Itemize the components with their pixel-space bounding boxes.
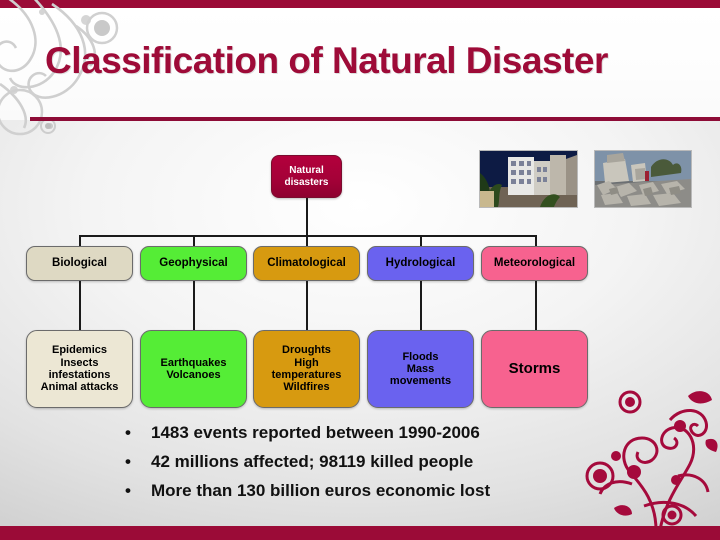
detail-climatological-line4: Wildfires [283, 381, 329, 393]
detail-biological-line4: Animal attacks [41, 381, 119, 393]
node-category-hydrological-label: Hydrological [386, 257, 456, 270]
node-category-biological-label: Biological [52, 257, 107, 270]
list-item: • 1483 events reported between 1990-2006 [125, 424, 645, 442]
node-detail-hydrological: Floods Mass movements [367, 330, 474, 408]
node-category-biological: Biological [26, 246, 133, 281]
node-category-hydrological: Hydrological [367, 246, 474, 281]
slide-canvas: Classification of Natural Disaster [0, 0, 720, 540]
detail-meteorological-line1: Storms [509, 361, 561, 378]
detail-hydrological-line1: Floods [402, 351, 438, 363]
connector-bus-to-biological [79, 235, 81, 246]
node-detail-meteorological: Storms [481, 330, 588, 408]
connector-meteorological-to-detail [535, 281, 537, 331]
node-root-line1: Natural [289, 165, 323, 176]
bullet-text-2: 42 millions affected; 98119 killed peopl… [151, 453, 473, 471]
node-root-line2: disasters [285, 177, 329, 188]
node-category-geophysical: Geophysical [140, 246, 247, 281]
bullet-marker-icon: • [125, 453, 151, 471]
detail-geophysical-line1: Earthquakes [160, 357, 226, 369]
node-category-climatological-label: Climatological [267, 257, 346, 270]
list-item: • More than 130 billion euros economic l… [125, 482, 645, 500]
node-category-meteorological-label: Meteorological [494, 257, 575, 270]
detail-climatological-line2: High [294, 357, 318, 369]
node-category-climatological: Climatological [253, 246, 360, 281]
connector-biological-to-detail [79, 281, 81, 331]
bottom-accent-bar [0, 526, 720, 540]
node-natural-disasters: Natural disasters [271, 155, 342, 198]
detail-hydrological-line2: Mass [407, 363, 435, 375]
connector-geophysical-to-detail [193, 281, 195, 331]
connector-bus-to-climatological [306, 235, 308, 246]
node-detail-geophysical: Earthquakes Volcanoes [140, 330, 247, 408]
connector-hydrological-to-detail [420, 281, 422, 331]
detail-geophysical-line2: Volcanoes [166, 369, 220, 381]
connector-bus [79, 235, 537, 237]
node-category-meteorological: Meteorological [481, 246, 588, 281]
bullet-text-1: 1483 events reported between 1990-2006 [151, 424, 480, 442]
node-detail-biological: Epidemics Insects infestations Animal at… [26, 330, 133, 408]
bullet-marker-icon: • [125, 424, 151, 442]
connector-bus-to-meteorological [535, 235, 537, 246]
detail-biological-line3: infestations [49, 369, 111, 381]
detail-hydrological-line3: movements [390, 375, 451, 387]
node-category-geophysical-label: Geophysical [159, 257, 227, 270]
bullet-marker-icon: • [125, 482, 151, 500]
bullet-text-3: More than 130 billion euros economic los… [151, 482, 490, 500]
detail-biological-line2: Insects [61, 357, 99, 369]
list-item: • 42 millions affected; 98119 killed peo… [125, 453, 645, 471]
detail-biological-line1: Epidemics [52, 344, 107, 356]
connector-bus-to-geophysical [193, 235, 195, 246]
node-detail-climatological: Droughts High temperatures Wildfires [253, 330, 360, 408]
statistics-bullet-list: • 1483 events reported between 1990-2006… [125, 424, 645, 511]
connector-climatological-to-detail [306, 281, 308, 331]
connector-root-down [306, 198, 308, 236]
detail-climatological-line3: temperatures [272, 369, 342, 381]
connector-bus-to-hydrological [420, 235, 422, 246]
detail-climatological-line1: Droughts [282, 344, 331, 356]
